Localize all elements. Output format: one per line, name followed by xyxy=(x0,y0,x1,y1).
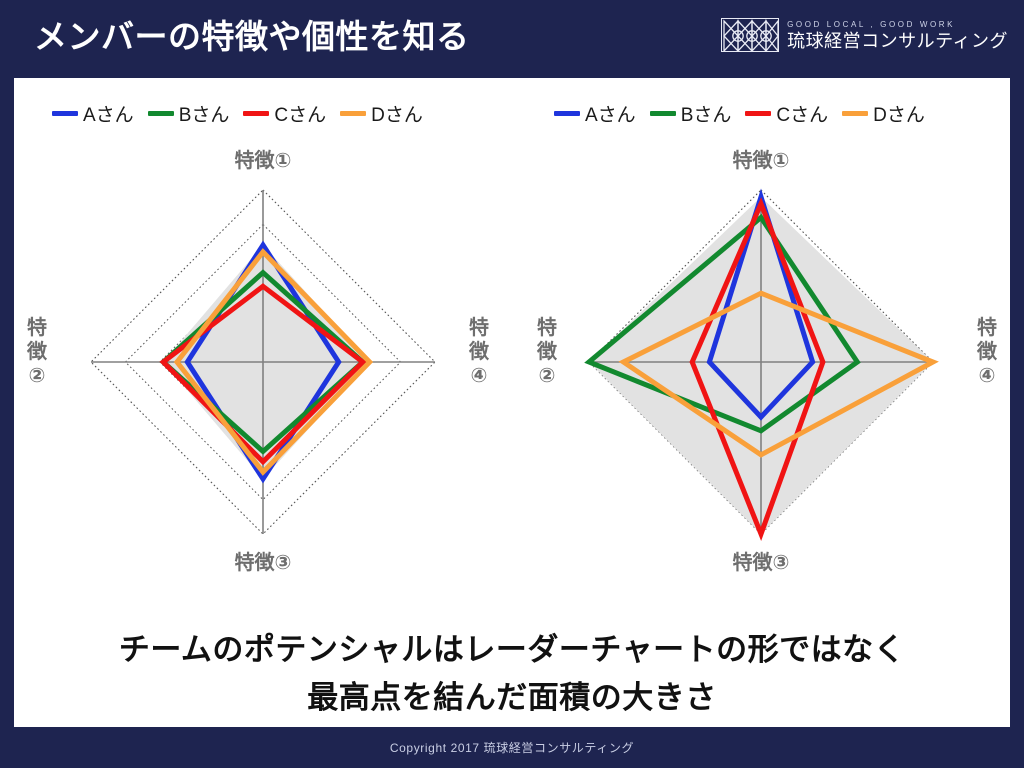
legend-swatch-d xyxy=(842,111,868,116)
legend-label-b: Bさん xyxy=(179,100,230,127)
legend-item-a[interactable]: Aさん xyxy=(52,100,134,127)
legend-label-b: Bさん xyxy=(681,100,732,127)
legend-item-b[interactable]: Bさん xyxy=(148,100,230,127)
legend-right: Aさん Bさん Cさん Dさん xyxy=(554,100,939,127)
slide-footer: Copyright 2017 琉球経営コンサルティング xyxy=(0,727,1024,768)
legend-item-a[interactable]: Aさん xyxy=(554,100,636,127)
caption-line-1: チームのポテンシャルはレーダーチャートの形ではなく xyxy=(14,626,1010,674)
legend-swatch-a xyxy=(554,111,580,116)
legend-label-d: Dさん xyxy=(873,100,925,127)
legend-label-a: Aさん xyxy=(83,100,134,127)
copyright-text: Copyright 2017 琉球経営コンサルティング xyxy=(390,739,634,756)
axis-label-bottom: 特徴③ xyxy=(14,546,512,575)
axis-label-right: 特徴④ xyxy=(974,316,1000,388)
logo-tagline: GOOD LOCAL , GOOD WORK xyxy=(787,19,1008,30)
legend-left: Aさん Bさん Cさん Dさん xyxy=(52,100,437,127)
legend-label-c: Cさん xyxy=(274,100,326,127)
slide-root: メンバーの特徴や個性を知る xyxy=(0,0,1024,768)
legend-label-d: Dさん xyxy=(371,100,423,127)
logo-text: GOOD LOCAL , GOOD WORK 琉球経営コンサルティング xyxy=(787,19,1008,52)
slide-caption: チームのポテンシャルはレーダーチャートの形ではなく 最高点を結んだ面積の大きさ xyxy=(14,626,1010,722)
axis-label-top: 特徴① xyxy=(512,144,1010,173)
legend-swatch-b xyxy=(650,111,676,116)
legend-item-c[interactable]: Cさん xyxy=(745,100,828,127)
legend-item-d[interactable]: Dさん xyxy=(340,100,423,127)
legend-item-d[interactable]: Dさん xyxy=(842,100,925,127)
axis-label-left: 特徴② xyxy=(24,316,50,388)
brand-logo: GOOD LOCAL , GOOD WORK 琉球経営コンサルティング xyxy=(721,18,1008,52)
legend-item-c[interactable]: Cさん xyxy=(243,100,326,127)
axis-label-top: 特徴① xyxy=(14,144,512,173)
axis-label-right: 特徴④ xyxy=(466,316,492,388)
slide-header: メンバーの特徴や個性を知る xyxy=(0,0,1024,74)
content-panel: Aさん Bさん Cさん Dさん Aさん Bさん xyxy=(14,78,1010,727)
legend-swatch-b xyxy=(148,111,174,116)
axis-label-bottom: 特徴③ xyxy=(512,546,1010,575)
radar-chart-left: 特徴① 特徴② 特徴④ 特徴③ xyxy=(14,138,512,638)
legend-item-b[interactable]: Bさん xyxy=(650,100,732,127)
legend-swatch-a xyxy=(52,111,78,116)
radar-chart-right: 特徴① 特徴② 特徴④ 特徴③ xyxy=(512,138,1010,638)
logo-company-name: 琉球経営コンサルティング xyxy=(787,30,1008,52)
legend-swatch-d xyxy=(340,111,366,116)
legend-swatch-c xyxy=(243,111,269,116)
ryukyu-logo-mark-icon xyxy=(721,18,779,52)
legend-label-c: Cさん xyxy=(776,100,828,127)
axis-label-left: 特徴② xyxy=(534,316,560,388)
legend-label-a: Aさん xyxy=(585,100,636,127)
caption-line-2: 最高点を結んだ面積の大きさ xyxy=(14,674,1010,722)
legend-swatch-c xyxy=(745,111,771,116)
page-title: メンバーの特徴や個性を知る xyxy=(34,16,470,58)
